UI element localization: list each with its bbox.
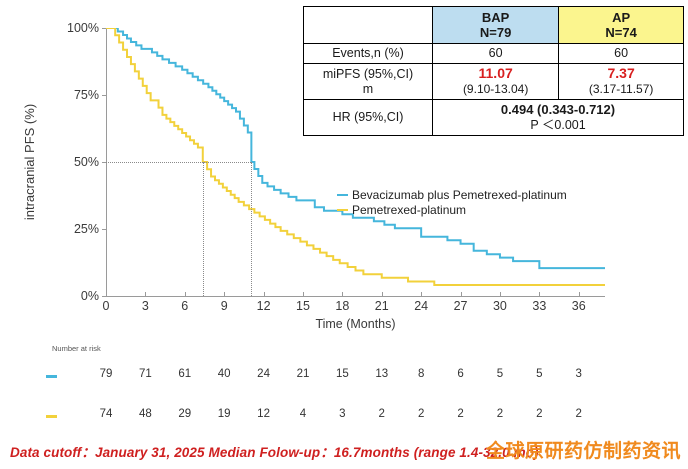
mipfs-ap-cell: 7.37 (3.17-11.57) [559,64,684,100]
number-at-risk-value: 2 [497,408,503,420]
number-at-risk-value: 3 [576,368,582,380]
x-tick-label: 6 [181,299,188,313]
y-tick-label: 50% [74,155,99,169]
number-at-risk-value: 13 [375,368,388,380]
row-label-hr: HR (95%,CI) [304,100,433,136]
hr-value: 0.494 (0.343-0.712) [501,102,615,117]
table-row-mipfs: miPFS (95%,CI) m 11.07 (9.10-13.04) 7.37… [304,64,684,100]
legend-label-bap: Bevacizumab plus Pemetrexed-platinum [352,188,567,202]
x-axis-label: Time (Months) [106,317,605,331]
legend-swatch-bap [337,194,348,197]
number-at-risk-value: 8 [418,368,424,380]
chart-legend: Bevacizumab plus Pemetrexed-platinum Pem… [337,188,567,218]
x-tick-label: 36 [572,299,586,313]
number-at-risk-value: 2 [457,408,463,420]
median-horizontal-line [106,162,251,163]
data-cutoff-footer: Data cutoff：January 31, 2025 Median Folo… [10,441,539,461]
number-at-risk-value: 3 [339,408,345,420]
number-at-risk-value: 5 [536,368,542,380]
number-at-risk-value: 21 [297,368,310,380]
number-at-risk-value: 40 [218,368,231,380]
mipfs-bap-value: 11.07 [479,65,513,81]
table-row-events: Events,n (%) 60 60 [304,44,684,64]
number-at-risk-value: 29 [178,408,191,420]
mipfs-ap-ci: (3.17-11.57) [589,82,653,96]
table-row-hr: HR (95%,CI) 0.494 (0.343-0.712) P ＜0.001 [304,100,684,136]
header-bap-name: BAP [482,10,509,25]
watermark-text: 全球原研药仿制药资讯 [486,436,681,463]
number-at-risk-swatch [46,415,57,418]
number-at-risk-value: 6 [457,368,463,380]
legend-swatch-ap [337,209,348,212]
header-ap-name: AP [612,10,630,25]
hr-pvalue: P ＜0.001 [530,118,585,132]
number-at-risk-row: 744829191243222222 [0,408,688,424]
table-header-bap: BAP N=79 [433,7,559,44]
events-bap-value: 60 [433,44,559,64]
number-at-risk-table: Number at risk 7971614024211513865537448… [0,340,688,432]
number-at-risk-row: 797161402421151386553 [0,368,688,384]
number-at-risk-value: 61 [178,368,191,380]
hr-value-cell: 0.494 (0.343-0.712) P ＜0.001 [433,100,684,136]
y-tick-label: 25% [74,222,99,236]
legend-item-ap: Pemetrexed-platinum [337,203,567,217]
row-label-mipfs-line1: miPFS (95%,CI) [323,67,413,81]
efficacy-summary-table: BAP N=79 AP N=74 Events,n (%) 60 60 miPF… [303,6,684,136]
x-tick-label: 3 [142,299,149,313]
number-at-risk-swatch [46,375,57,378]
y-tick-label: 75% [74,88,99,102]
events-ap-value: 60 [559,44,684,64]
x-axis-line [106,296,605,297]
row-label-events: Events,n (%) [304,44,433,64]
y-tick-mark [102,296,106,297]
x-tick-label: 30 [493,299,507,313]
row-label-mipfs-line2: m [363,82,373,96]
x-tick-label: 27 [454,299,468,313]
number-at-risk-value: 74 [100,408,113,420]
number-at-risk-value: 2 [379,408,385,420]
number-at-risk-value: 12 [257,408,270,420]
y-tick-label: 0% [81,289,99,303]
legend-label-ap: Pemetrexed-platinum [352,203,466,217]
number-at-risk-title: Number at risk [52,344,101,353]
mipfs-bap-ci: (9.10-13.04) [463,82,528,96]
mipfs-ap-value: 7.37 [608,65,635,81]
x-tick-label: 12 [257,299,271,313]
number-at-risk-value: 5 [497,368,503,380]
header-ap-n: N=74 [605,25,636,40]
number-at-risk-value: 24 [257,368,270,380]
number-at-risk-value: 79 [100,368,113,380]
median-vertical-line-bap [251,162,252,296]
number-at-risk-value: 19 [218,408,231,420]
table-header-ap: AP N=74 [559,7,684,44]
number-at-risk-value: 15 [336,368,349,380]
legend-item-bap: Bevacizumab plus Pemetrexed-platinum [337,188,567,202]
number-at-risk-value: 2 [418,408,424,420]
y-axis-label: intracranial PFS (%) [22,28,38,296]
x-tick-label: 24 [414,299,428,313]
number-at-risk-value: 2 [536,408,542,420]
mipfs-bap-cell: 11.07 (9.10-13.04) [433,64,559,100]
y-tick-label: 100% [67,21,99,35]
x-tick-label: 15 [296,299,310,313]
number-at-risk-value: 2 [576,408,582,420]
table-header-row: BAP N=79 AP N=74 [304,7,684,44]
x-tick-label: 0 [103,299,110,313]
table-corner-cell [304,7,433,44]
header-bap-n: N=79 [480,25,511,40]
number-at-risk-value: 48 [139,408,152,420]
x-tick-label: 18 [335,299,349,313]
number-at-risk-value: 71 [139,368,152,380]
row-label-mipfs: miPFS (95%,CI) m [304,64,433,100]
median-vertical-line-ap [203,162,204,296]
x-tick-label: 9 [221,299,228,313]
x-tick-label: 33 [532,299,546,313]
number-at-risk-value: 4 [300,408,306,420]
x-tick-label: 21 [375,299,389,313]
